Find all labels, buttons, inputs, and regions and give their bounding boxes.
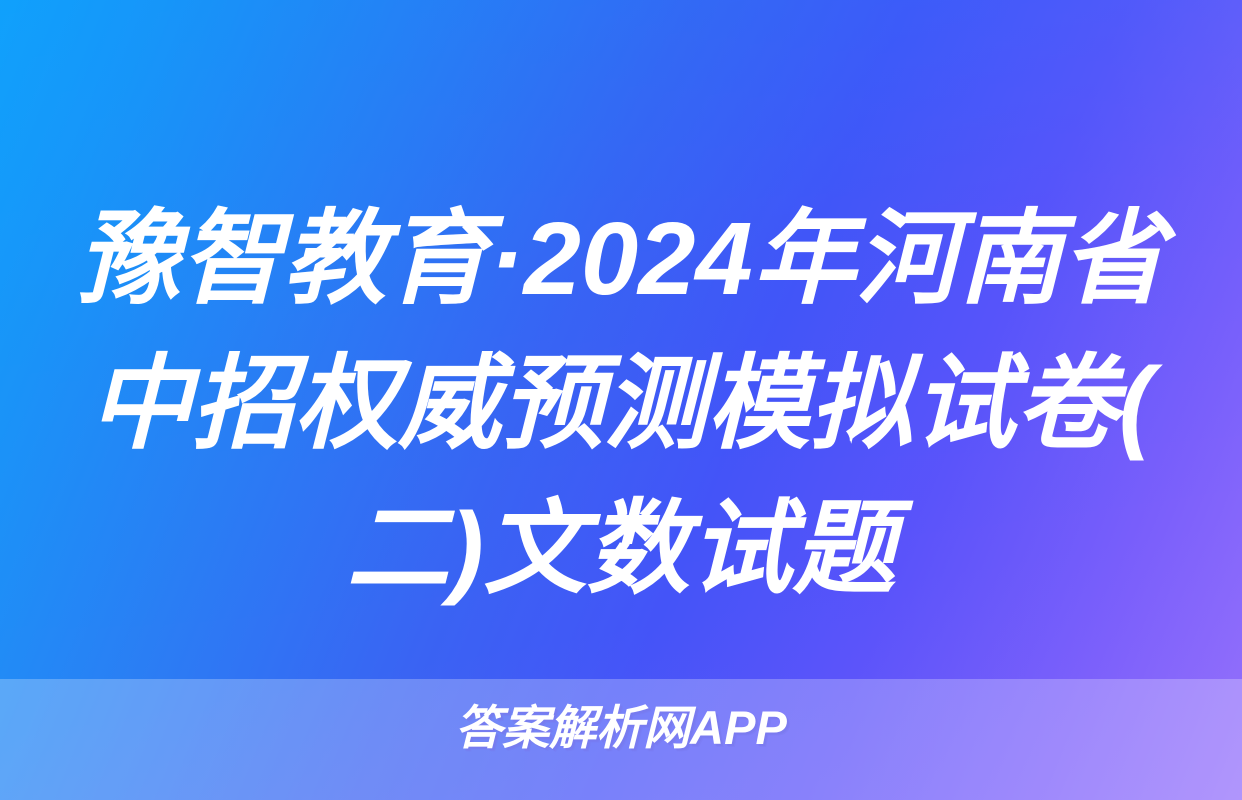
title-line-1: 豫智教育·2024年河南省 [70, 186, 1172, 331]
title-line-3: 二)文数试题 [70, 476, 1172, 621]
title-line-2: 中招权威预测模拟试卷( [70, 331, 1172, 476]
watermark-label: 答案解析网APP [455, 700, 787, 756]
poster-title: 豫智教育·2024年河南省 中招权威预测模拟试卷( 二)文数试题 [0, 186, 1242, 621]
poster-canvas: 豫智教育·2024年河南省 中招权威预测模拟试卷( 二)文数试题 答案解析网AP… [0, 0, 1242, 800]
watermark: 答案解析网APP [0, 700, 1242, 756]
